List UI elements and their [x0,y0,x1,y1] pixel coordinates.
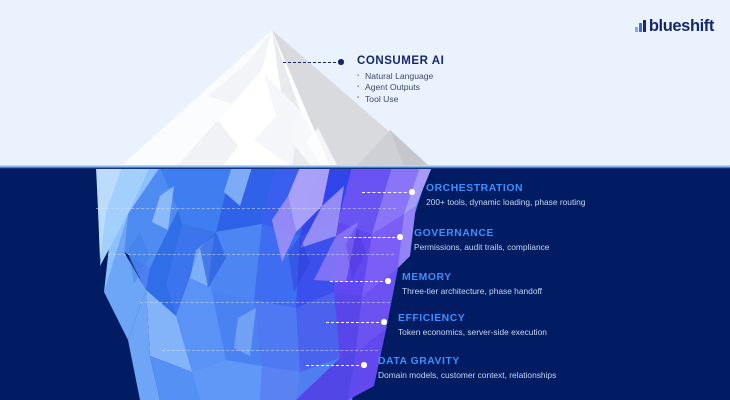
callout-title: MEMORY [402,272,542,283]
callout-title: CONSUMER AI [357,55,444,67]
brand-name: blueshift [649,20,714,32]
callout-subtitle: Token economics, server-side execution [398,327,547,337]
callout-title: GOVERNANCE [414,228,549,239]
leader-dot [397,234,403,240]
leader-dot [361,362,367,368]
scan-line [140,302,390,303]
callout-subtitle: Permissions, audit trails, compliance [414,242,549,252]
scan-line [96,208,396,209]
leader-line [283,62,341,63]
callout-subtitle: 200+ tools, dynamic loading, phase routi… [426,197,585,207]
callout-text: MEMORY Three-tier architecture, phase ha… [402,272,542,296]
leader-dot [385,278,391,284]
list-item: Tool Use [357,94,444,105]
callout-subtitle: Domain models, customer context, relatio… [378,370,556,380]
list-item: Natural Language [357,71,444,82]
leader-line [344,237,400,238]
callout-subtitle: Three-tier architecture, phase handoff [402,286,542,296]
leader-dot [409,189,415,195]
callout-title: EFFICIENCY [398,313,547,324]
waterline [0,165,730,169]
callout-text: DATA GRAVITY Domain models, customer con… [378,356,556,380]
leader-dot [381,319,387,325]
callout-text: CONSUMER AI Natural Language Agent Outpu… [357,55,444,105]
callout-text: EFFICIENCY Token economics, server-side … [398,313,547,337]
leader-line [362,192,412,193]
callout-title: DATA GRAVITY [378,356,556,367]
list-item: Agent Outputs [357,82,444,93]
infographic-canvas: blueshift CONSUMER AI Natural Language A… [0,0,730,400]
callout-bullet-list: Natural Language Agent Outputs Tool Use [357,71,444,105]
leader-dot [338,59,344,65]
callout-title: ORCHESTRATION [426,183,585,194]
leader-line [326,322,384,323]
scan-line [108,254,394,255]
callout-text: GOVERNANCE Permissions, audit trails, co… [414,228,549,252]
blueshift-logo[interactable]: blueshift [635,20,714,32]
bar-chart-logo-icon [635,20,646,32]
callout-text: ORCHESTRATION 200+ tools, dynamic loadin… [426,183,585,207]
scan-line [162,350,378,351]
leader-line [306,365,364,366]
leader-line [330,281,388,282]
